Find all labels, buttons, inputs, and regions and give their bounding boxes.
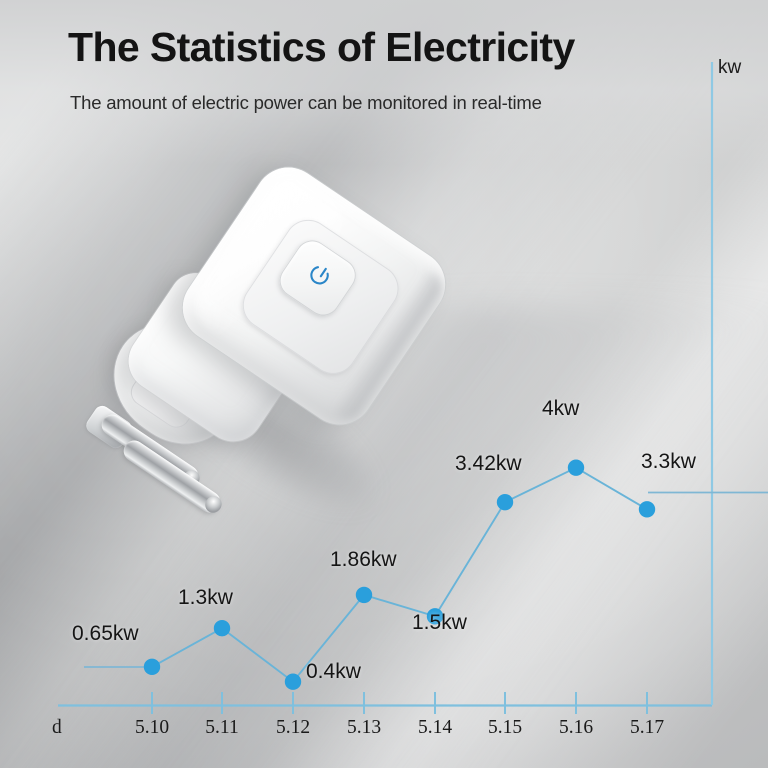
x-tick-label-6: 5.16 [559, 717, 593, 739]
x-tick-label-0: 5.10 [135, 717, 169, 739]
x-axis-title: d [52, 717, 62, 739]
point-label-0: 0.65kw [72, 622, 139, 646]
point-label-2: 0.4kw [306, 660, 361, 684]
infographic-canvas: The Statistics of Electricity The amount… [0, 0, 768, 768]
chart-labels-layer: d 5.10 5.11 5.12 5.13 5.14 5.15 5.16 5.1… [0, 0, 768, 768]
point-label-7: 3.3kw [641, 450, 696, 474]
point-label-1: 1.3kw [178, 586, 233, 610]
x-tick-label-7: 5.17 [630, 717, 664, 739]
point-label-5: 3.42kw [455, 452, 522, 476]
point-label-6: 4kw [542, 397, 579, 421]
point-label-3: 1.86kw [330, 548, 397, 572]
x-tick-label-2: 5.12 [276, 717, 310, 739]
point-label-4: 1.5kw [412, 611, 467, 635]
x-tick-label-1: 5.11 [205, 717, 238, 739]
x-tick-label-4: 5.14 [418, 717, 452, 739]
x-tick-label-3: 5.13 [347, 717, 381, 739]
x-tick-label-5: 5.15 [488, 717, 522, 739]
